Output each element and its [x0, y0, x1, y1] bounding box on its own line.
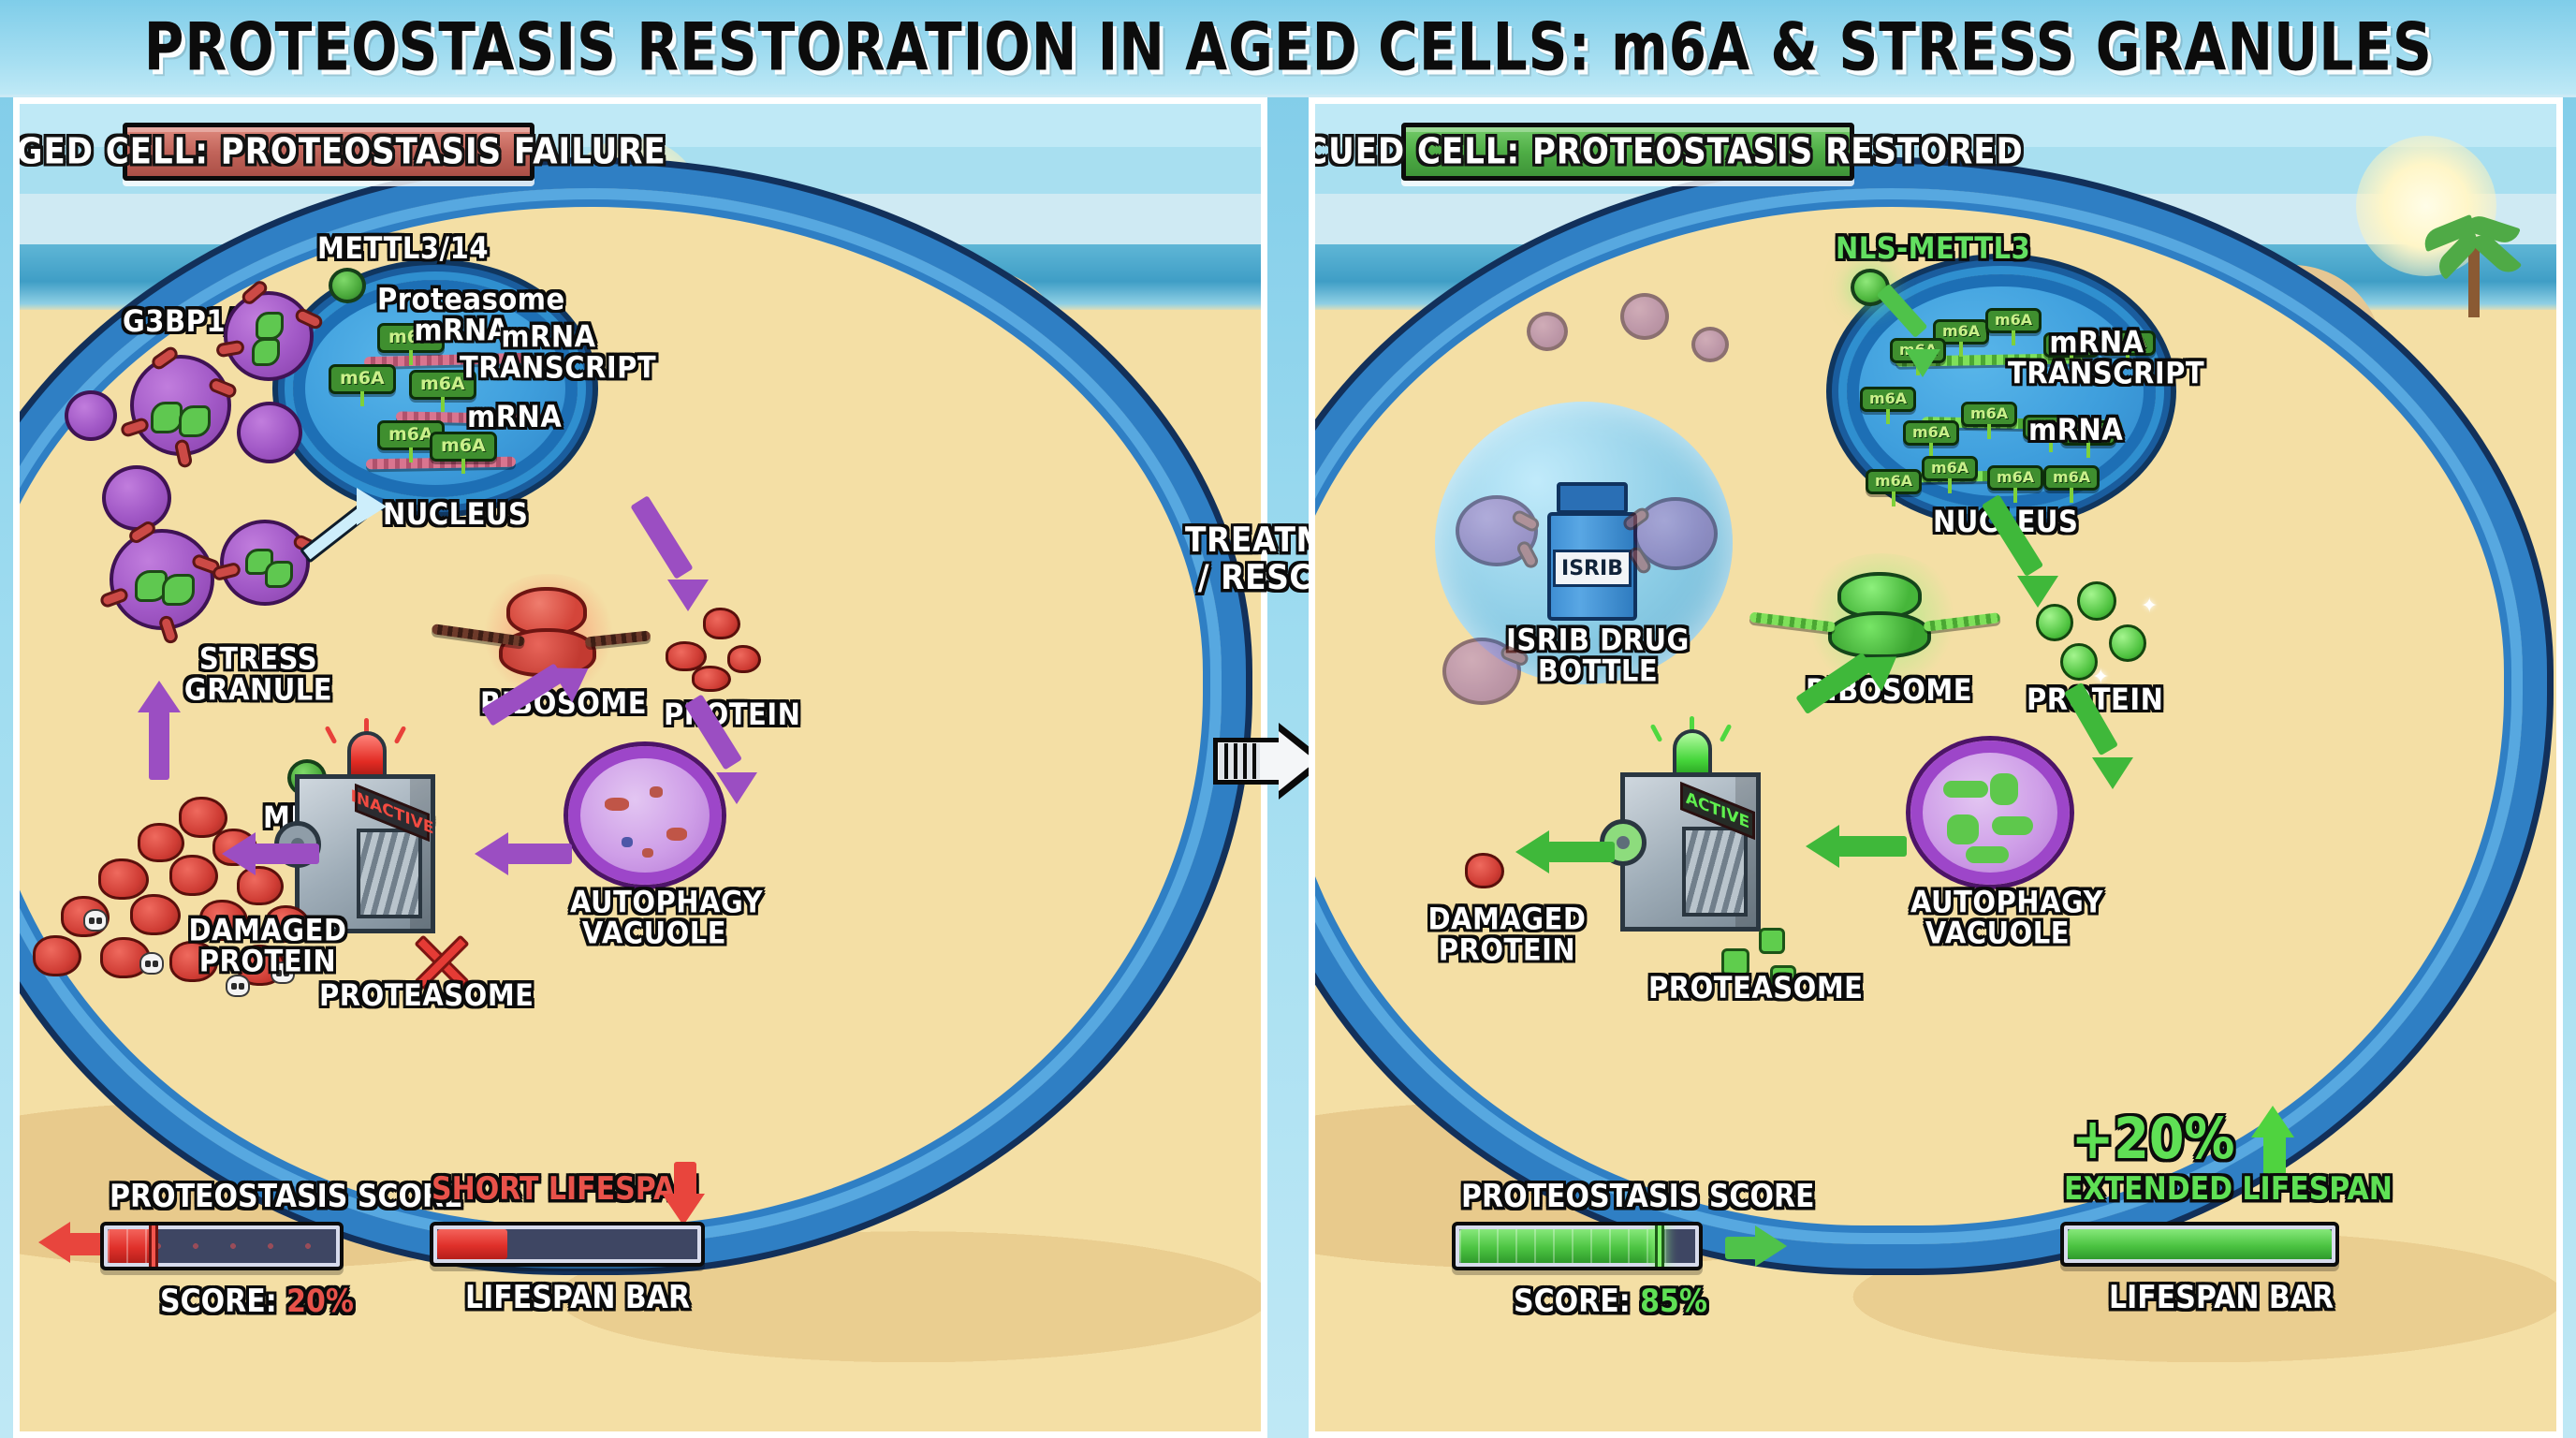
label-autophagy-vacuole: AUTOPHAGY VACUOLE [1910, 888, 2085, 948]
score-value-left: 20% [286, 1284, 354, 1320]
label-mrna-transcript: mRNA TRANSCRIPT [2008, 328, 2186, 389]
score-title-right: PROTEOSTASIS SCORE [1461, 1179, 1815, 1215]
label-damaged-protein: DAMAGED PROTEIN [179, 916, 357, 976]
label-mettl3-14-top: METTL3/14 [317, 234, 489, 265]
score-label-right: SCORE: 85% [1514, 1284, 1707, 1320]
title-bar: PROTEOSTASIS RESTORATION IN AGED CELLS: … [0, 0, 2576, 97]
label-damaged-protein: DAMAGED PROTEIN [1418, 904, 1596, 965]
label-mrna-transcript: mRNA TRANSCRIPT [460, 322, 637, 383]
label-nls-mettl3: NLS-METTL3 [1836, 234, 2030, 265]
infographic-canvas: PROTEOSTASIS RESTORATION IN AGED CELLS: … [0, 0, 2576, 1438]
m6a-tag: m6A [430, 432, 497, 462]
aged-cell-banner: AGED CELL: PROTEOSTASIS FAILURE [123, 123, 534, 181]
proteasome-machine-right: ACTIVE [1600, 729, 1787, 945]
label-proteasome: PROTEASOME [1648, 974, 1863, 1005]
lifespan-caption-right: LIFESPAN BAR [2109, 1280, 2334, 1316]
stress-granule [65, 390, 117, 441]
stress-granule [102, 465, 171, 531]
rescued-cell-banner: RESCUED CELL: PROTEOSTASIS RESTORED [1401, 123, 1854, 181]
autophagy-vacuole-right [1910, 741, 2070, 885]
lifespan-caption-left: LIFESPAN BAR [465, 1280, 690, 1316]
aged-cell-panel: AGED CELL: PROTEOSTASIS FAILURE m6A m6A … [13, 97, 1267, 1438]
autophagy-vacuole-left [568, 746, 722, 885]
m6a-tag: m6A [1860, 387, 1916, 412]
dissolving-stress-granule [1691, 327, 1729, 362]
proteostasis-meter-left [100, 1222, 344, 1270]
dissolving-stress-granule [1620, 293, 1669, 340]
misfolded-protein-group [666, 608, 778, 692]
lifespan-meter-right [2060, 1222, 2339, 1267]
stress-granule [237, 402, 302, 463]
dissolving-stress-granule [1442, 638, 1521, 705]
dissolving-stress-granule [1633, 497, 1718, 570]
m6a-tag: m6A [329, 364, 396, 394]
stress-granule [130, 355, 231, 456]
m6a-tag: m6A [1987, 465, 2043, 491]
label-proteasome: PROTEASOME [319, 981, 534, 1012]
page-title: PROTEOSTASIS RESTORATION IN AGED CELLS: … [143, 8, 2432, 86]
proteostasis-meter-right [1452, 1222, 1703, 1270]
lifespan-title-right: EXTENDED LIFESPAN [2064, 1171, 2393, 1208]
m6a-tag: m6A [1903, 420, 1959, 446]
damaged-protein-small [1465, 853, 1512, 894]
stress-granule [220, 520, 310, 606]
lifespan-gain-right: +20% [2071, 1106, 2235, 1172]
score-value-right: 85% [1640, 1284, 1707, 1320]
rescued-cell-panel: RESCUED CELL: PROTEOSTASIS RESTORED m6A … [1309, 97, 2563, 1438]
label-nucleus: NUCLEUS [383, 500, 528, 531]
score-label-left: SCORE: 20% [160, 1284, 354, 1320]
label-isrib-drug-bottle: ISRIB DRUG BOTTLE [1504, 625, 1691, 686]
label-stress-granule: STRESS GRANULE [169, 644, 347, 705]
score-title-left: PROTEOSTASIS SCORE [110, 1179, 463, 1215]
score-text-left: SCORE: [160, 1284, 277, 1320]
mettl3-14-enzyme-icon [329, 268, 366, 303]
m6a-tag: m6A [1866, 469, 1922, 494]
label-mrna: mRNA [2028, 416, 2123, 447]
stress-granule [110, 529, 214, 630]
label-mrna: mRNA [467, 403, 562, 433]
lifespan-meter-left [430, 1222, 705, 1267]
score-text-right: SCORE: [1514, 1284, 1631, 1320]
dissolving-stress-granule [1527, 312, 1568, 351]
m6a-tag: m6A [2043, 465, 2100, 491]
label-autophagy-vacuole: AUTOPHAGY VACUOLE [570, 888, 739, 948]
isrib-bottle-text: ISRIB [1553, 550, 1632, 587]
m6a-tag: m6A [1961, 402, 2017, 427]
dissolving-stress-granule [1456, 495, 1538, 566]
m6a-tag: m6A [1922, 456, 1978, 481]
lifespan-title-left: SHORT LIFESPAN [432, 1171, 698, 1208]
stress-granule [224, 291, 314, 381]
